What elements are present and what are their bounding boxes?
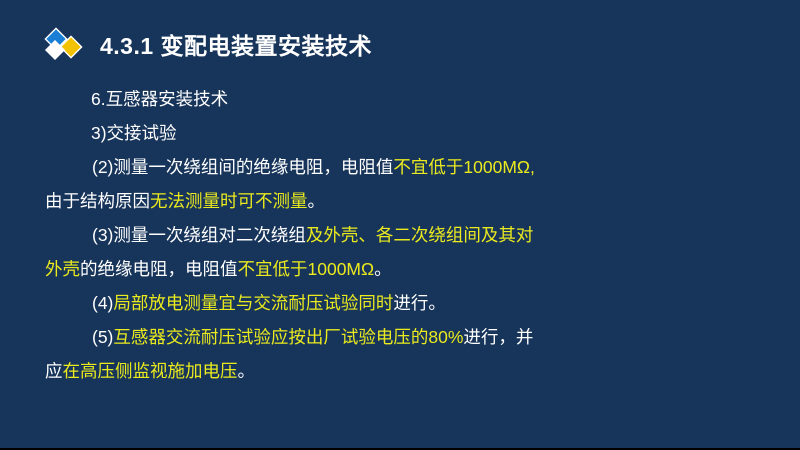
slide-body: 6.互感器安装技术 3)交接试验 (2)测量一次绕组间的绝缘电阻，电阻值不宜低于…	[45, 82, 765, 388]
page-title: 4.3.1 变配电装置安装技术	[100, 34, 372, 59]
text-segment: (3)测量一次绕组对二次绕组	[92, 225, 306, 245]
three-diamonds-logo-icon	[44, 27, 88, 67]
text-line-heading-6: 6.互感器安装技术	[45, 82, 765, 116]
text-line-heading-3: 3)交接试验	[45, 116, 765, 150]
text-segment: 进行，并	[463, 327, 533, 347]
text-segment: 6.互感器安装技术	[91, 89, 228, 109]
slide-canvas: 4.3.1 变配电装置安装技术 6.互感器安装技术 3)交接试验 (2)测量一次…	[0, 0, 800, 450]
slide-header: 4.3.1 变配电装置安装技术	[0, 22, 800, 72]
text-segment: (5)	[92, 327, 113, 347]
text-line-item-4: (4)局部放电测量宜与交流耐压试验同时进行。	[45, 286, 765, 320]
text-segment-highlight: 在高压侧监视施加电压	[63, 361, 238, 381]
text-segment: 。	[308, 191, 326, 211]
text-segment: 应	[45, 361, 63, 381]
text-segment: 由于结构原因	[45, 191, 150, 211]
text-segment: 3)交接试验	[91, 123, 177, 143]
three-diamonds-svg	[44, 27, 88, 67]
text-segment: 进行。	[393, 293, 446, 313]
text-line-item-5a: (5)互感器交流耐压试验应按出厂试验电压的80%进行，并	[45, 320, 765, 354]
text-segment-highlight: 不宜低于1000MΩ,	[393, 157, 534, 177]
text-line-item-5b: 应在高压侧监视施加电压。	[45, 354, 765, 388]
text-line-item-2b: 由于结构原因无法测量时可不测量。	[45, 184, 765, 218]
text-segment: 。	[374, 259, 392, 279]
text-segment: (4)	[92, 293, 113, 313]
text-line-item-3b: 外壳的绝缘电阻，电阻值不宜低于1000MΩ。	[45, 252, 765, 286]
text-line-item-2a: (2)测量一次绕组间的绝缘电阻，电阻值不宜低于1000MΩ,	[45, 150, 765, 184]
text-segment: (2)测量一次绕组间的绝缘电阻，电阻值	[92, 157, 393, 177]
text-segment-highlight: 及外壳、各二次绕组间及其对	[306, 225, 534, 245]
text-segment: 。	[238, 361, 256, 381]
text-segment-highlight: 互感器交流耐压试验应按出厂试验电压的80%	[113, 327, 463, 347]
text-line-item-3a: (3)测量一次绕组对二次绕组及外壳、各二次绕组间及其对	[45, 218, 765, 252]
text-segment: 的绝缘电阻，电阻值	[80, 259, 238, 279]
text-segment-highlight: 外壳	[45, 259, 80, 279]
text-segment-highlight: 局部放电测量宜与交流耐压试验同时	[113, 293, 393, 313]
text-segment-highlight: 无法测量时可不测量	[150, 191, 308, 211]
text-segment-highlight: 不宜低于1000MΩ	[238, 259, 375, 279]
